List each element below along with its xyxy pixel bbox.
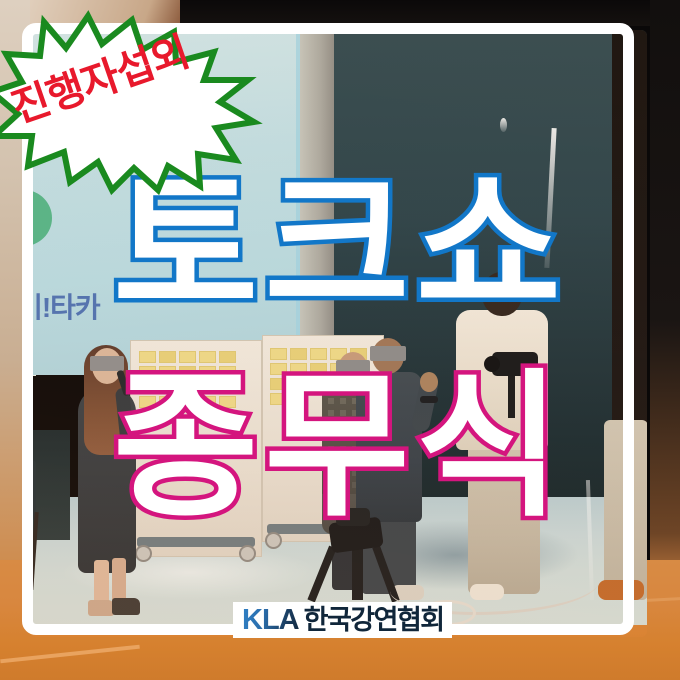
logo-mark-kla: KLA — [242, 606, 299, 635]
kla-logo: KLA 한국강연협회 — [233, 602, 452, 638]
poster-canvas: 티!키!타카 지 — [0, 0, 680, 680]
starburst-badge: 진행자섭외 — [0, 14, 254, 190]
title-line-1: 토크쇼 — [0, 168, 680, 326]
logo-name-korean: 한국강연협회 — [304, 607, 444, 634]
title-line-2: 종무식 — [0, 368, 680, 526]
